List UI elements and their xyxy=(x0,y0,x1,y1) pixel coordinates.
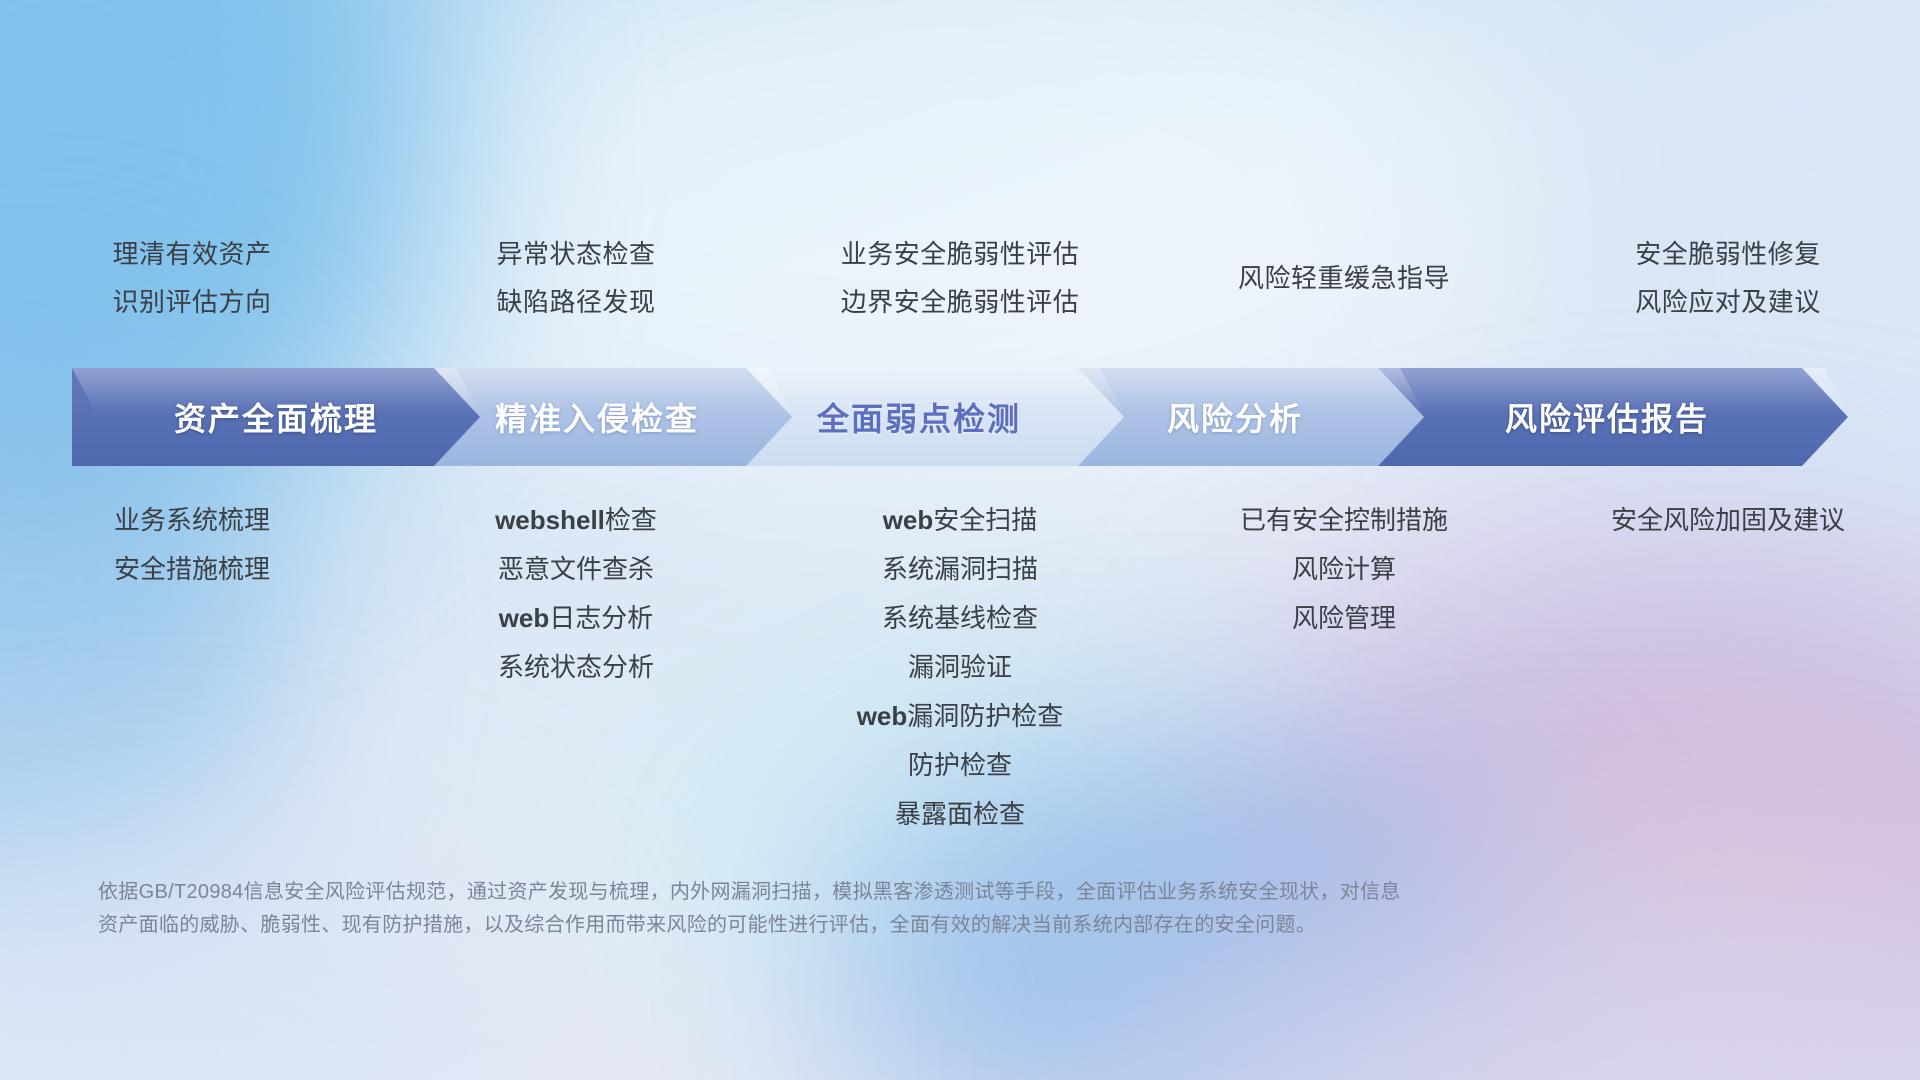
process-banner: 资产全面梳理 精准入侵检查 全面弱点检测 风险分析 风险评估报告 xyxy=(72,368,1848,466)
output-item: web日志分析 xyxy=(499,594,654,643)
process-step-label: 资产全面梳理 xyxy=(174,394,378,440)
outputs-col-5: 安全风险加固及建议 xyxy=(1536,496,1920,545)
inputs-row: 理清有效资产 识别评估方向 异常状态检查 缺陷路径发现 业务安全脆弱性评估 边界… xyxy=(0,228,1920,328)
output-item: 风险计算 xyxy=(1292,545,1396,594)
input-item: 识别评估方向 xyxy=(112,278,271,326)
input-item: 异常状态检查 xyxy=(496,230,655,278)
output-item: 系统状态分析 xyxy=(498,643,654,692)
process-step-label: 全面弱点检测 xyxy=(817,394,1021,440)
output-item: web安全扫描 xyxy=(883,496,1038,545)
footer-line: 资产面临的威胁、脆弱性、现有防护措施，以及综合作用而带来风险的可能性进行评估，全… xyxy=(98,909,1658,942)
outputs-row: 业务系统梳理安全措施梳理 webshell检查恶意文件查杀web日志分析系统状态… xyxy=(0,496,1920,826)
process-step-label: 精准入侵检查 xyxy=(495,394,699,440)
output-item: 系统漏洞扫描 xyxy=(882,545,1038,594)
inputs-col-3: 业务安全脆弱性评估 边界安全脆弱性评估 xyxy=(768,228,1152,328)
output-item: 漏洞验证 xyxy=(908,643,1012,692)
process-step-label: 风险评估报告 xyxy=(1505,394,1709,440)
output-item: webshell检查 xyxy=(495,496,657,545)
process-step-label: 风险分析 xyxy=(1167,394,1303,440)
input-item: 理清有效资产 xyxy=(112,230,271,278)
footer-description: 依据GB/T20984信息安全风险评估规范，通过资产发现与梳理，内外网漏洞扫描，… xyxy=(98,876,1658,942)
output-item: 业务系统梳理 xyxy=(114,496,270,545)
input-item: 业务安全脆弱性评估 xyxy=(841,230,1080,278)
process-step-1[interactable]: 资产全面梳理 xyxy=(72,368,480,466)
diagram-canvas: 理清有效资产 识别评估方向 异常状态检查 缺陷路径发现 业务安全脆弱性评估 边界… xyxy=(0,0,1920,1080)
outputs-col-4: 已有安全控制措施风险计算风险管理 xyxy=(1152,496,1536,643)
output-item: 风险管理 xyxy=(1292,594,1396,643)
outputs-col-1: 业务系统梳理安全措施梳理 xyxy=(0,496,384,594)
inputs-col-2: 异常状态检查 缺陷路径发现 xyxy=(384,228,768,328)
footer-line: 依据GB/T20984信息安全风险评估规范，通过资产发现与梳理，内外网漏洞扫描，… xyxy=(98,876,1658,909)
process-step-5[interactable]: 风险评估报告 xyxy=(1366,368,1848,466)
input-item: 安全脆弱性修复 xyxy=(1635,230,1821,278)
output-item: 安全措施梳理 xyxy=(114,545,270,594)
output-item: web漏洞防护检查 xyxy=(857,692,1064,741)
output-item: 系统基线检查 xyxy=(882,594,1038,643)
output-item: 已有安全控制措施 xyxy=(1240,496,1448,545)
inputs-col-4: 风险轻重缓急指导 xyxy=(1152,228,1536,328)
inputs-col-5: 安全脆弱性修复 风险应对及建议 xyxy=(1536,228,1920,328)
output-item: 暴露面检查 xyxy=(895,790,1025,839)
outputs-col-2: webshell检查恶意文件查杀web日志分析系统状态分析 xyxy=(384,496,768,692)
input-item: 风险轻重缓急指导 xyxy=(1238,254,1450,302)
outputs-col-3: web安全扫描系统漏洞扫描系统基线检查漏洞验证web漏洞防护检查防护检查暴露面检… xyxy=(768,496,1152,839)
output-item: 恶意文件查杀 xyxy=(498,545,654,594)
output-item: 防护检查 xyxy=(908,741,1012,790)
input-item: 风险应对及建议 xyxy=(1635,278,1821,326)
output-item: 安全风险加固及建议 xyxy=(1611,496,1845,545)
input-item: 缺陷路径发现 xyxy=(496,278,655,326)
inputs-col-1: 理清有效资产 识别评估方向 xyxy=(0,228,384,328)
input-item: 边界安全脆弱性评估 xyxy=(841,278,1080,326)
